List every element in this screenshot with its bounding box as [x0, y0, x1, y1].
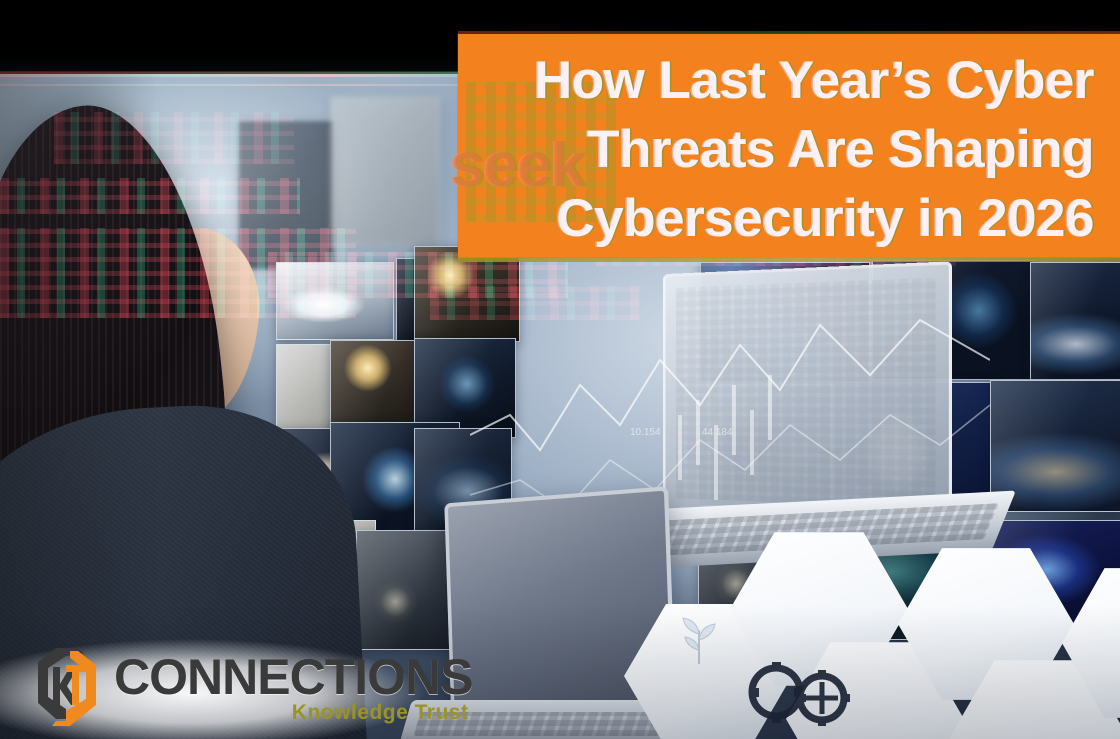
title-line-3: Cybersecurity in 2026: [504, 184, 1094, 253]
promo-banner-image: 10.154 44.184: [0, 0, 1120, 739]
kt-hexagon-icon: [26, 643, 108, 727]
plant-sprout-icon: [676, 612, 722, 664]
laptop-display: [444, 486, 676, 711]
gears-icon: [742, 648, 862, 738]
woman-figure: [0, 78, 390, 739]
logo-wordmark: CONNECTIONS Knowledge Trust: [114, 643, 472, 725]
brand-logo[interactable]: CONNECTIONS Knowledge Trust: [26, 643, 472, 727]
banner-bottom-edge: [458, 257, 1120, 262]
laptop-display-large: [663, 261, 952, 525]
title-line-2: Threats Are Shaping: [504, 115, 1094, 184]
logo-name: CONNECTIONS: [114, 651, 472, 703]
title-banner: seek How Last Year’s Cyber Threats Are S…: [458, 34, 1120, 258]
title-line-1: How Last Year’s Cyber: [504, 46, 1094, 115]
tile-city-data: [1030, 262, 1120, 380]
banner-top-edge: [458, 31, 1120, 34]
